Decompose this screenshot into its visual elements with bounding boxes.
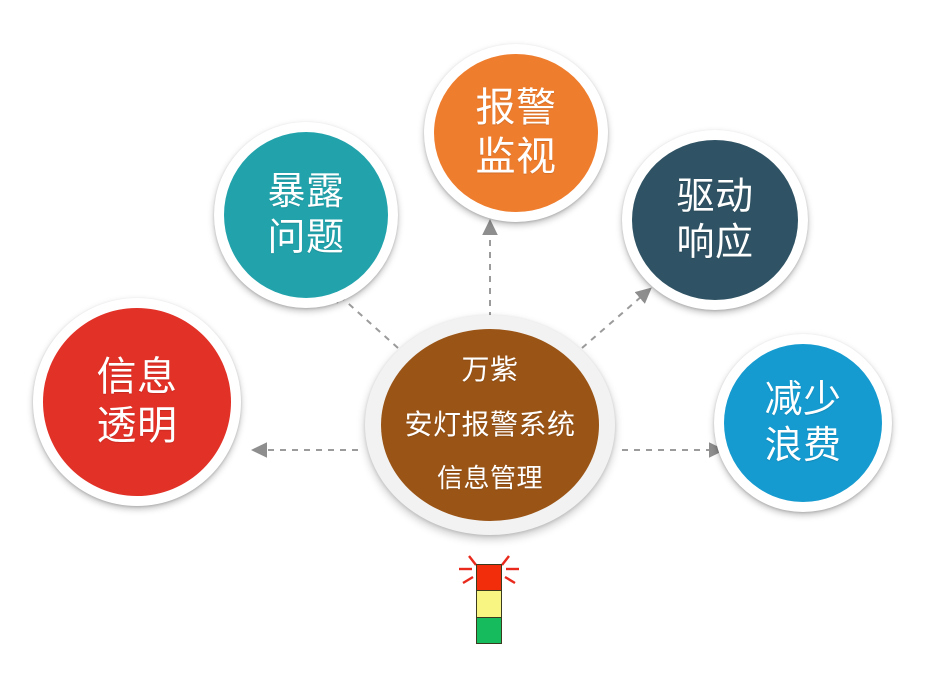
node-alarm-monitor-line1: 报警 [476,84,557,133]
node-info-transparent-line1: 信息 [97,353,178,402]
node-expose-problem[interactable]: 暴露 问题 [214,122,398,308]
node-reduce-waste-line1: 减少 [764,377,841,423]
node-alarm-monitor[interactable]: 报警 监视 [424,44,608,222]
node-drive-response-disc: 驱动 响应 [632,140,798,300]
andon-light-tower-icon [449,546,529,648]
center-hub-line-middle: 安灯报警系统 [404,408,575,442]
node-drive-response[interactable]: 驱动 响应 [622,130,808,310]
node-reduce-waste-line2: 浪费 [764,423,841,469]
node-drive-response-line1: 驱动 [676,174,753,220]
green-lamp-icon [477,617,501,643]
yellow-lamp-icon [477,590,501,616]
center-hub-line-top: 万紫 [461,353,518,387]
node-alarm-monitor-disc: 报警 监视 [434,54,598,212]
andon-lamp-stack [476,564,502,644]
node-drive-response-line2: 响应 [676,220,753,266]
node-expose-problem-disc: 暴露 问题 [224,132,388,298]
red-lamp-icon [477,565,501,590]
node-expose-problem-line1: 暴露 [267,169,344,215]
node-alarm-monitor-line2: 监视 [476,133,557,182]
center-hub[interactable]: 万紫 安灯报警系统 信息管理 [365,315,615,535]
node-info-transparent[interactable]: 信息 透明 [33,298,241,506]
diagram-canvas: 报警 监视 暴露 问题 驱动 响应 信息 透明 减少 浪费 万紫 安 [0,0,939,680]
center-hub-disc: 万紫 安灯报警系统 信息管理 [381,329,599,521]
connector-hub-to-drive-response [582,296,642,348]
node-expose-problem-line2: 问题 [267,215,344,261]
node-reduce-waste-disc: 减少 浪费 [724,344,882,502]
node-reduce-waste[interactable]: 减少 浪费 [714,334,892,512]
node-info-transparent-line2: 透明 [97,402,178,451]
node-info-transparent-disc: 信息 透明 [43,308,231,496]
center-hub-line-bottom: 信息管理 [437,463,543,495]
connector-hub-to-expose-problem [340,296,398,348]
